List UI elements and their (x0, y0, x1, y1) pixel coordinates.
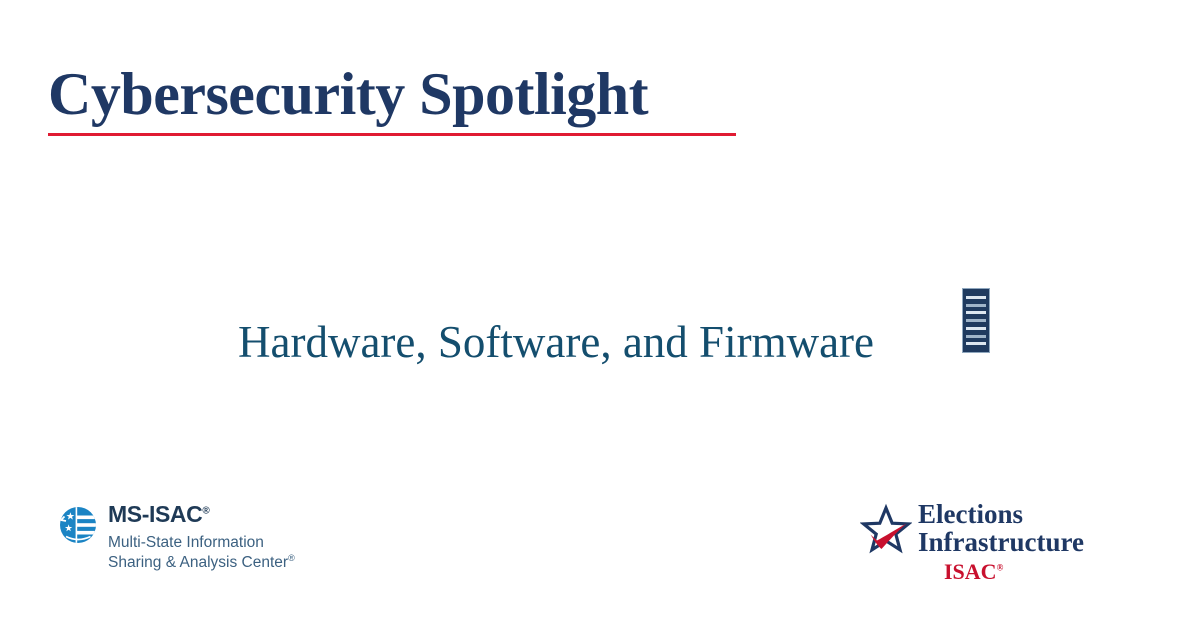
ei-isac-logo: Elections Infrastructure ISAC® (860, 500, 1084, 585)
ms-isac-wordmark: MS-ISAC® (108, 503, 295, 526)
slide-subtitle: Hardware, Software, and Firmware (238, 318, 874, 368)
ei-isac-line-elections: Elections (918, 500, 1084, 528)
rack-unit (966, 327, 986, 330)
ms-isac-text-block: MS-ISAC® Multi-State InformationSharing … (108, 503, 295, 573)
ms-isac-tagline: Multi-State InformationSharing & Analysi… (108, 533, 295, 573)
ms-isac-tagline-registered-mark: ® (288, 553, 295, 563)
rack-unit (966, 335, 986, 338)
title-block: Cybersecurity Spotlight (48, 63, 748, 126)
page-title: Cybersecurity Spotlight (48, 63, 748, 126)
rack-unit (966, 311, 986, 314)
server-rack-icon (962, 288, 990, 353)
ei-isac-line-infrastructure: Infrastructure (918, 528, 1084, 556)
subtitle-block: Hardware, Software, and Firmware (238, 318, 874, 368)
rack-unit (966, 296, 986, 299)
ei-isac-isac-wordmark: ISAC® (944, 559, 1084, 585)
slide-canvas: Cybersecurity Spotlight Hardware, Softwa… (0, 0, 1200, 627)
elections-star-check-icon (860, 503, 912, 555)
ms-isac-tagline-line1: Multi-State Information (108, 534, 264, 551)
rack-unit (966, 319, 986, 322)
ms-isac-logo: MS-ISAC® Multi-State InformationSharing … (58, 503, 295, 573)
rack-unit (966, 304, 986, 307)
ms-isac-registered-mark: ® (202, 505, 209, 516)
ei-isac-registered-mark: ® (997, 563, 1004, 573)
ms-isac-tagline-line2: Sharing & Analysis Center (108, 554, 288, 571)
ei-isac-text-block: Elections Infrastructure ISAC® (918, 500, 1084, 585)
title-underline-rule (48, 133, 736, 136)
ms-isac-globe-icon (58, 505, 98, 545)
ei-isac-isac-text: ISAC (944, 559, 997, 584)
ms-isac-wordmark-text: MS-ISAC (108, 501, 202, 527)
rack-unit (966, 342, 986, 345)
